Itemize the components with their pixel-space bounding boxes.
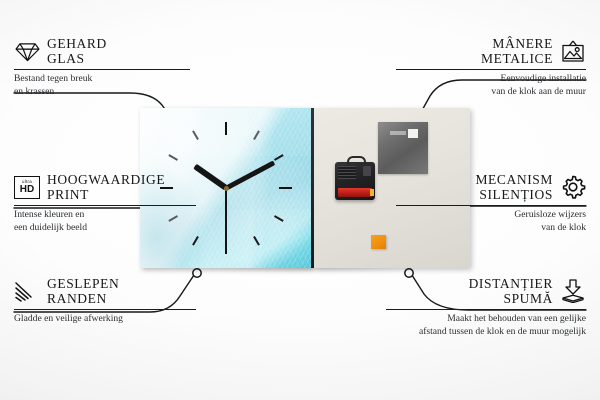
ultra-hd-icon: ultra HD: [14, 174, 40, 200]
clock-side-edge: [311, 108, 314, 268]
gear-icon: [560, 174, 586, 200]
feature-header: GESLEPEN RANDEN: [14, 276, 210, 306]
feature-description: Gladde en veilige afwerking: [14, 313, 210, 326]
clock-center-cap: [224, 186, 229, 191]
feature-description: Geruisloze wijzers van de klok: [396, 209, 586, 234]
mechanism-hook: [347, 156, 366, 166]
feature-title-line1: MECANISM: [475, 172, 553, 187]
feature-title-line2: SPUMĂ: [469, 291, 553, 306]
feature-title: MECANISM SILENȚIOS: [475, 172, 553, 202]
feature-title-line1: GESLEPEN: [47, 276, 119, 291]
feature-header: MECANISM SILENȚIOS: [396, 172, 586, 202]
feature-desc-line2: van de klok: [396, 222, 586, 235]
mechanism-setting-knob: [363, 166, 371, 176]
feature-divider: [396, 205, 586, 206]
feature-title-line1: HOOGWAARDIGE: [47, 172, 165, 187]
feature-divider: [14, 309, 196, 310]
orange-foam-spacer: [371, 235, 386, 249]
feature-distantier-spuma: DISTANȚIER SPUMĂ Maakt het behouden van …: [386, 276, 586, 339]
feature-hoogwaardige-print: ultra HD HOOGWAARDIGE PRINT Intense kleu…: [14, 172, 210, 235]
beveled-edges-icon: [14, 278, 40, 304]
clock-tick-12: [225, 122, 227, 188]
feature-desc-line2: afstand tussen de klok en de muur mogeli…: [386, 326, 586, 339]
feature-divider: [14, 69, 190, 70]
aa-battery: [338, 188, 372, 197]
infographic-canvas: GEHARD GLAS Bestand tegen breuk en krass…: [0, 0, 600, 400]
foam-spacer-icon: [560, 278, 586, 304]
feature-title-line2: RANDEN: [47, 291, 119, 306]
feature-desc-line1: Maakt het behouden van een gelijke: [386, 313, 586, 326]
feature-description: Maakt het behouden van een gelijke afsta…: [386, 313, 586, 338]
clock-tick-3: [226, 187, 292, 189]
feature-gehard-glas: GEHARD GLAS Bestand tegen breuk en krass…: [14, 36, 204, 99]
feature-title-line1: DISTANȚIER: [469, 276, 553, 291]
feature-title: HOOGWAARDIGE PRINT: [47, 172, 165, 202]
feature-divider: [14, 205, 196, 206]
feature-title: DISTANȚIER SPUMĂ: [469, 276, 553, 306]
hd-badge-hd-label: HD: [20, 185, 34, 195]
feature-desc-line1: Gladde en veilige afwerking: [14, 313, 210, 326]
feature-title-line1: MÂNERE: [481, 36, 553, 51]
feature-desc-line1: Intense kleuren en: [14, 209, 210, 222]
feature-title-line2: SILENȚIOS: [475, 187, 553, 202]
feature-header: ultra HD HOOGWAARDIGE PRINT: [14, 172, 210, 202]
feature-description: Bestand tegen breuk en krassen: [14, 73, 204, 98]
feature-header: DISTANȚIER SPUMĂ: [386, 276, 586, 306]
feature-desc-line2: van de klok aan de muur: [396, 86, 586, 99]
feature-title: GESLEPEN RANDEN: [47, 276, 119, 306]
feature-title-line2: METALICE: [481, 51, 553, 66]
feature-title: MÂNERE METALICE: [481, 36, 553, 66]
diamond-icon: [14, 38, 40, 64]
feature-title-line2: PRINT: [47, 187, 165, 202]
feature-title-line2: GLAS: [47, 51, 107, 66]
feature-divider: [386, 309, 586, 310]
feature-header: MÂNERE METALICE: [396, 36, 586, 66]
feature-desc-line1: Eenvoudige installatie: [396, 73, 586, 86]
clock-second-hand: [225, 188, 227, 250]
feature-desc-line1: Bestand tegen breuk: [14, 73, 204, 86]
feature-geslepen-randen: GESLEPEN RANDEN Gladde en veilige afwerk…: [14, 276, 210, 326]
feature-desc-line2: een duidelijk beeld: [14, 222, 210, 235]
feature-mecanism-silentios: MECANISM SILENȚIOS Geruisloze wijzers va…: [396, 172, 586, 235]
metal-hanger-plate: [378, 122, 428, 174]
feature-header: GEHARD GLAS: [14, 36, 204, 66]
clock-mechanism: [335, 162, 375, 200]
feature-title: GEHARD GLAS: [47, 36, 107, 66]
feature-description: Eenvoudige installatie van de klok aan d…: [396, 73, 586, 98]
feature-divider: [396, 69, 586, 70]
feature-manere-metalice: MÂNERE METALICE Eenvoudige installatie v…: [396, 36, 586, 99]
feature-desc-line2: en krassen: [14, 86, 204, 99]
picture-hanger-icon: [560, 38, 586, 64]
feature-desc-line1: Geruisloze wijzers: [396, 209, 586, 222]
feature-title-line1: GEHARD: [47, 36, 107, 51]
feature-description: Intense kleuren en een duidelijk beeld: [14, 209, 210, 234]
hd-badge: ultra HD: [14, 176, 40, 199]
mechanism-grill: [338, 166, 356, 179]
